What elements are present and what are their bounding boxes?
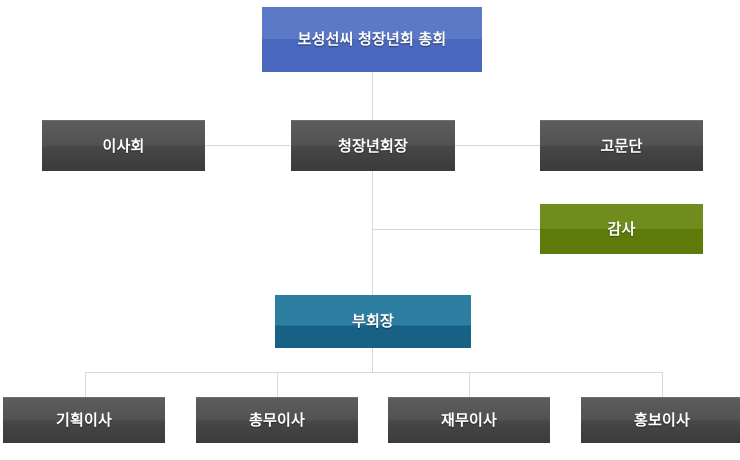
node-president-label: 청장년회장 bbox=[338, 139, 408, 154]
node-director-pr-label: 홍보이사 bbox=[634, 413, 690, 428]
connector-board-president bbox=[205, 145, 290, 146]
connector-bus-director-pr bbox=[662, 372, 663, 397]
connector-bus-director-planning bbox=[85, 372, 86, 397]
connector-director-bus bbox=[85, 372, 663, 373]
node-advisors[interactable]: 고문단 bbox=[540, 120, 703, 171]
node-board[interactable]: 이사회 bbox=[42, 120, 205, 171]
connector-bus-director-general bbox=[277, 372, 278, 397]
node-auditor-label: 감사 bbox=[607, 222, 635, 237]
node-assembly[interactable]: 보성선씨 청장년회 총회 bbox=[262, 7, 482, 72]
node-president[interactable]: 청장년회장 bbox=[291, 120, 455, 171]
node-assembly-label: 보성선씨 청장년회 총회 bbox=[298, 32, 447, 47]
node-vice-president-label: 부회장 bbox=[352, 314, 394, 329]
node-director-general[interactable]: 총무이사 bbox=[196, 397, 358, 443]
node-vice-president[interactable]: 부회장 bbox=[275, 295, 471, 348]
connector-president-vicepresident bbox=[372, 171, 373, 302]
node-auditor[interactable]: 감사 bbox=[540, 204, 703, 254]
connector-bus-director-finance bbox=[469, 372, 470, 397]
node-director-pr[interactable]: 홍보이사 bbox=[581, 397, 740, 443]
connector-president-advisors bbox=[455, 145, 540, 146]
connector-assembly-president bbox=[372, 72, 373, 120]
node-advisors-label: 고문단 bbox=[600, 139, 642, 154]
node-director-finance[interactable]: 재무이사 bbox=[388, 397, 550, 443]
org-chart: 보성선씨 청장년회 총회 이사회 청장년회장 고문단 감사 부회장 기획이사 총… bbox=[0, 0, 740, 460]
node-director-planning[interactable]: 기획이사 bbox=[3, 397, 165, 443]
node-director-finance-label: 재무이사 bbox=[441, 413, 497, 428]
connector-president-auditor bbox=[372, 229, 540, 230]
node-director-planning-label: 기획이사 bbox=[56, 413, 112, 428]
connector-vicepresident-bus bbox=[372, 348, 373, 372]
node-board-label: 이사회 bbox=[102, 139, 144, 154]
node-director-general-label: 총무이사 bbox=[249, 413, 305, 428]
